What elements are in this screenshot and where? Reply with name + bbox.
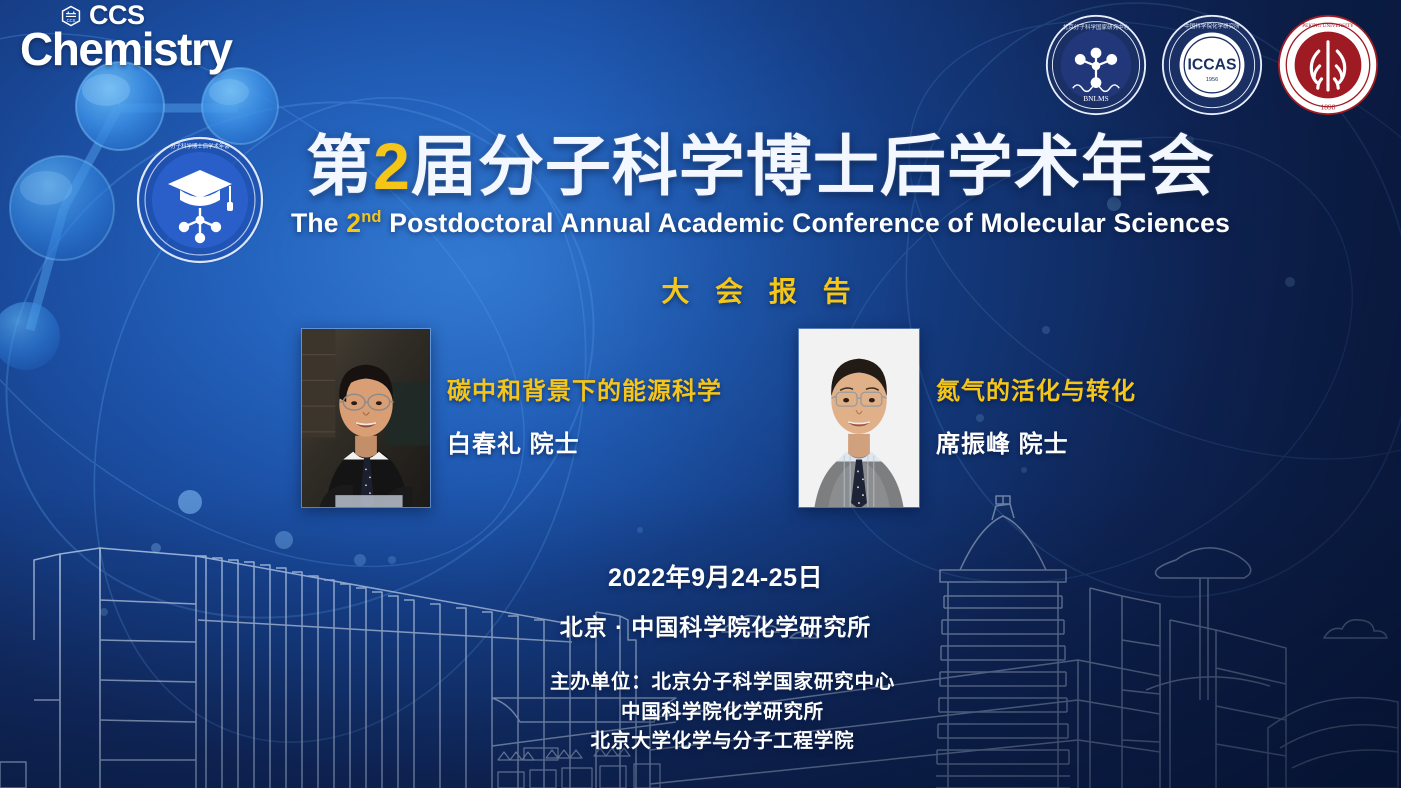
institution-logo-group: BNLMS 北京分子科学国家研究中心 ICCAS 1956 中国科学院化学研究所 bbox=[1045, 14, 1379, 116]
organizer-line-3: 北京大学化学与分子工程学院 bbox=[44, 727, 1401, 757]
organizers-block: 主办单位：北京分子科学国家研究中心 中国科学院化学研究所 北京大学化学与分子工程… bbox=[0, 668, 1401, 757]
svg-text:CCS: CCS bbox=[67, 18, 76, 23]
organizer-line-1: 主办单位：北京分子科学国家研究中心 bbox=[44, 668, 1401, 698]
peking-university-logo: PEKING UNIVERSITY 1898 bbox=[1277, 14, 1379, 116]
organizer-name-1: 北京分子科学国家研究中心 bbox=[651, 671, 895, 693]
ccs-logo-main-text: Chemistry bbox=[20, 26, 280, 72]
talk-title-2: 氮气的活化与转化 bbox=[936, 371, 1136, 406]
event-date: 2022年9月24-25日 bbox=[30, 558, 1401, 594]
event-info: 2022年9月24-25日 北京 · 中国科学院化学研究所 bbox=[0, 558, 1401, 642]
title-en-rest: Postdoctoral Annual Academic Conference … bbox=[382, 208, 1230, 238]
page-title-cn: 第2届分子科学博士后学术年会 bbox=[120, 132, 1401, 202]
title-en-number: 2 bbox=[346, 208, 361, 238]
title-cn-suffix: 届分子科学博士后学术年会 bbox=[411, 129, 1215, 203]
talk-title-1: 碳中和背景下的能源科学 bbox=[447, 371, 722, 406]
title-en-ordinal: nd bbox=[361, 208, 381, 226]
title-cn-prefix: 第 bbox=[306, 129, 373, 203]
svg-text:北京分子科学国家研究中心: 北京分子科学国家研究中心 bbox=[1063, 23, 1130, 31]
iccas-year: 1956 bbox=[1206, 77, 1218, 83]
pku-name: PEKING UNIVERSITY bbox=[1302, 23, 1354, 29]
ccs-chemistry-logo: CCS CCS Chemistry bbox=[20, 2, 280, 78]
speaker-name-2: 席振峰 院士 bbox=[936, 424, 1136, 459]
title-block: 第2届分子科学博士后学术年会 The 2nd Postdoctoral Annu… bbox=[0, 132, 1401, 239]
conference-poster: CCS CCS Chemistry bbox=[0, 0, 1401, 788]
svg-text:中国科学院化学研究所: 中国科学院化学研究所 bbox=[1184, 22, 1240, 30]
organizer-name-3: 北京大学化学与分子工程学院 bbox=[591, 730, 855, 752]
iccas-abbr: ICCAS bbox=[1187, 57, 1236, 74]
pku-year: 1898 bbox=[1321, 103, 1336, 112]
organizers-label: 主办单位： bbox=[550, 671, 652, 693]
page-title-en: The 2nd Postdoctoral Annual Academic Con… bbox=[120, 208, 1401, 239]
bnlms-logo: BNLMS 北京分子科学国家研究中心 bbox=[1045, 14, 1147, 116]
title-cn-number: 2 bbox=[373, 129, 411, 203]
session-label: 大 会 报 告 bbox=[0, 270, 1401, 310]
speaker-photo-bai-chunli bbox=[301, 328, 431, 508]
speaker-photo-xi-zhenfeng bbox=[798, 328, 920, 508]
title-en-prefix: The bbox=[291, 208, 346, 238]
organizer-line-2: 中国科学院化学研究所 bbox=[44, 698, 1401, 728]
speaker-name-1: 白春礼 院士 bbox=[447, 424, 722, 459]
bnlms-abbr: BNLMS bbox=[1083, 94, 1109, 103]
event-venue: 北京 · 中国科学院化学研究所 bbox=[30, 608, 1401, 642]
speaker-card-2: 氮气的活化与转化 席振峰 院士 bbox=[798, 328, 1136, 508]
speaker-card-1: 碳中和背景下的能源科学 白春礼 院士 bbox=[301, 328, 722, 508]
iccas-logo: ICCAS 1956 中国科学院化学研究所 bbox=[1161, 14, 1263, 116]
speaker-list: 碳中和背景下的能源科学 白春礼 院士 bbox=[0, 328, 1401, 508]
organizer-name-2: 中国科学院化学研究所 bbox=[621, 701, 824, 723]
